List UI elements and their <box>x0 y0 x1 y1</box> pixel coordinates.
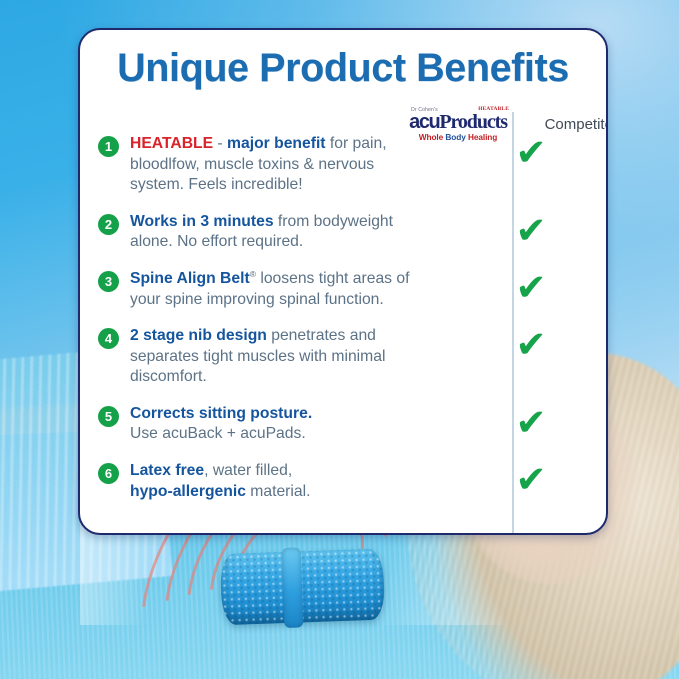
benefit-keyword-bold-2: hypo-allergenic <box>130 483 246 500</box>
benefit-number-badge: 4 <box>98 328 119 349</box>
benefit-row: 2 Works in 3 minutes from bodyweight alo… <box>80 212 606 253</box>
logo-products: Products <box>439 111 507 133</box>
competitor-cross-icon: X <box>585 212 608 243</box>
logo-wordmark: acuProductsHEATABLE <box>406 112 510 132</box>
product-check-icon: ✔ <box>506 212 556 249</box>
competitor-cross-icon: X <box>585 134 608 165</box>
benefits-list: 1 HEATABLE - major benefit for pain, blo… <box>80 134 606 502</box>
benefit-text: Spine Align Belt® loosens tight areas of… <box>130 269 430 310</box>
benefit-text: Latex free, water filled, hypo-allergeni… <box>130 461 430 502</box>
benefit-body-2: material. <box>246 483 311 500</box>
benefit-keyword-bold: Latex free <box>130 462 204 479</box>
benefit-body: Use acuBack + acuPads. <box>130 425 306 442</box>
benefit-text: Corrects sitting posture. Use acuBack + … <box>130 404 430 445</box>
benefit-number-badge: 2 <box>98 214 119 235</box>
benefit-keyword-bold: Corrects sitting posture. <box>130 405 312 422</box>
benefit-number-badge: 3 <box>98 271 119 292</box>
product-check-icon: ✔ <box>506 326 556 363</box>
benefit-body: , water filled, <box>204 462 292 479</box>
competitor-cross-icon: X <box>585 461 608 492</box>
product-check-icon: ✔ <box>506 134 556 171</box>
product-check-icon: ✔ <box>506 404 556 441</box>
competitor-cross-icon: X <box>585 326 608 357</box>
page-title: Unique Product Benefits <box>80 46 606 91</box>
benefit-keyword-red: HEATABLE <box>130 135 213 152</box>
benefit-keyword-bold: major benefit <box>227 135 326 152</box>
benefit-dash: - <box>213 135 227 152</box>
benefit-text: 2 stage nib design penetrates and separa… <box>130 326 430 388</box>
benefit-number-badge: 6 <box>98 463 119 484</box>
benefit-keyword-bold: Spine Align Belt <box>130 270 250 287</box>
benefit-keyword-bold: Works in 3 minutes <box>130 213 274 230</box>
benefit-number-badge: 1 <box>98 136 119 157</box>
logo-heatable-badge: HEATABLE <box>478 107 509 112</box>
benefit-row: 5 Corrects sitting posture. Use acuBack … <box>80 404 606 445</box>
benefit-row: 1 HEATABLE - major benefit for pain, blo… <box>80 134 606 196</box>
roller-center-band <box>281 547 303 627</box>
benefits-card: Unique Product Benefits Dr Cohen's acuPr… <box>78 28 608 535</box>
competitor-cross-icon: X <box>585 404 608 435</box>
benefit-text: HEATABLE - major benefit for pain, blood… <box>130 134 430 196</box>
logo-acu: acu <box>409 111 439 133</box>
benefit-number-badge: 5 <box>98 406 119 427</box>
product-check-icon: ✔ <box>506 269 556 306</box>
photo-massage-roller <box>219 549 384 626</box>
product-check-icon: ✔ <box>506 461 556 498</box>
benefit-row: 6 Latex free, water filled, hypo-allerge… <box>80 461 606 502</box>
benefit-text: Works in 3 minutes from bodyweight alone… <box>130 212 430 253</box>
competitor-cross-icon: X <box>585 269 608 300</box>
benefit-keyword-bold: 2 stage nib design <box>130 327 267 344</box>
benefit-row: 4 2 stage nib design penetrates and sepa… <box>80 326 606 388</box>
benefit-row: 3 Spine Align Belt® loosens tight areas … <box>80 269 606 310</box>
competitors-column-header: Competitors <box>520 116 608 133</box>
